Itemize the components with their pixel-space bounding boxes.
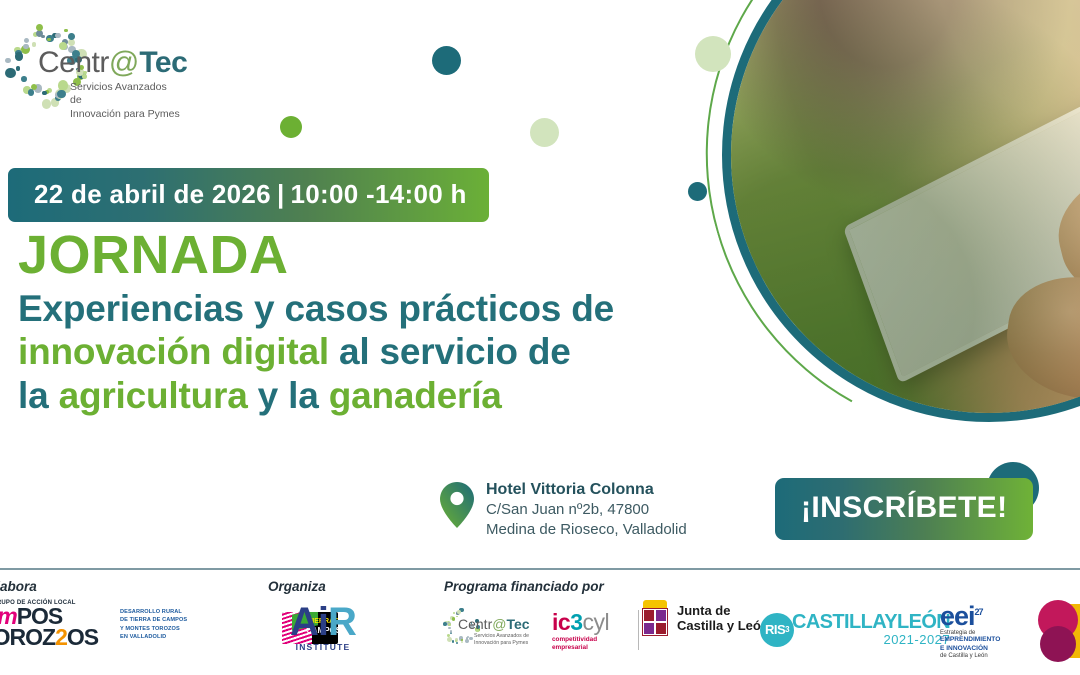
eei-text: eei: [940, 601, 975, 631]
icecyl-sub-1: competitividad: [552, 636, 642, 645]
junta-wordmark: Junta de Castilla y León: [677, 604, 769, 633]
crest-shield: [642, 608, 668, 636]
venue-address: C/San Juan nº2b, 47800: [486, 500, 687, 519]
castilla-leon-crest-icon: [640, 600, 670, 638]
crest-crown: [643, 600, 667, 608]
location-pin-icon: [440, 482, 474, 528]
air-r: R: [328, 600, 356, 644]
headline-line-3: la agricultura y la ganadería: [18, 374, 758, 417]
logo-word-centr: Centr: [38, 46, 109, 79]
ris3-badge: RIS3: [760, 613, 794, 647]
footer-label-collaborate: olabora: [0, 579, 37, 594]
headline-l3-green-a: agricultura: [59, 375, 248, 416]
torozos-b: OS: [67, 624, 98, 650]
headline-l3-green-b: ganadería: [329, 375, 502, 416]
headline-kicker: JORNADA: [18, 228, 758, 283]
air-institute-logo: AiR INSTITUTE: [268, 604, 378, 652]
icecyl-cyl: cyl: [582, 609, 609, 635]
dot-teal-mid: [688, 182, 707, 201]
dot-pale-top: [695, 36, 731, 72]
crest-quarter-3: [643, 622, 655, 635]
junta-castilla-leon-logo: Junta de Castilla y León: [640, 600, 769, 638]
event-date: 22 de abril de 2026: [34, 179, 271, 209]
campos-torozos-logo: GRUPO DE ACCIÓN LOCAL CAmPOS TOROZ2OS DE…: [0, 600, 196, 648]
tagline-line-2: Innovación para Pymes: [70, 108, 180, 121]
centratec-wordmark: Centr@Tec: [38, 46, 187, 80]
ct-at: @: [492, 616, 506, 632]
date-time-separator: |: [271, 179, 291, 209]
icecyl-tagline: competitividad empresarial: [552, 636, 642, 653]
ct-word-1: Centr: [458, 616, 492, 632]
eei-line-3: de Castilla y León: [940, 653, 1032, 659]
footer-label-organize: Organiza: [268, 579, 326, 594]
campos-side-4: EN VALLADOLID: [120, 633, 187, 641]
campos-side-text: DESARROLLO RURAL DE TIERRA DE CAMPOS Y M…: [120, 608, 187, 642]
eei-superscript: 27: [975, 607, 983, 617]
headline-l3-teal-a: la: [18, 375, 48, 416]
eei-line-2: EMPRENDIMIENTO E INNOVACIÓN: [940, 636, 1032, 653]
centratec-logo: Centr@Tec Servicios Avanzados de Innovac…: [8, 26, 180, 122]
register-button[interactable]: ¡INSCRÍBETE!: [775, 478, 1033, 540]
headline-line-2: innovación digital al servicio de: [18, 330, 758, 373]
headline-l1-teal: Experiencias y casos prácticos de: [18, 288, 614, 329]
centratec-footer-tagline: Servicios Avanzados de Innovación para P…: [474, 633, 529, 647]
air-institute-label: INSTITUTE: [268, 642, 378, 652]
headline-line-1: Experiencias y casos prácticos de: [18, 287, 758, 330]
campos-side-3: Y MONTES TOROZOS: [120, 625, 187, 633]
eei-line-2a: EMPRENDIMIENTO: [940, 636, 1032, 645]
event-time: 10:00 -14:00 h: [291, 179, 467, 209]
eei-wordmark: eei27: [940, 604, 1032, 628]
partner-logo-circle-purple: [1040, 626, 1076, 662]
crest-quarter-1: [643, 609, 655, 622]
campos-side-1: DESARROLLO RURAL: [120, 608, 187, 616]
headline-l2-green: innovación digital: [18, 331, 329, 372]
headline-l2-teal: al servicio de: [339, 331, 571, 372]
headline-l3-teal-b: y la: [258, 375, 319, 416]
event-date-ribbon: 22 de abril de 2026|10:00 -14:00 h: [8, 168, 489, 222]
headline-body: Experiencias y casos prácticos de innova…: [18, 287, 758, 417]
ris3-years: 2021-2027: [792, 632, 950, 647]
footer-logo-separator: [638, 610, 639, 650]
centratec-footer-wordmark: Centr@Tec: [458, 616, 530, 634]
centratec-tagline: Servicios Avanzados de Innovación para P…: [70, 81, 180, 121]
eei-logo: eei27 Estrategia de EMPRENDIMIENTO E INN…: [940, 604, 1032, 659]
venue-city: Medina de Rioseco, Valladolid: [486, 520, 687, 539]
campos-side-2: DE TIERRA DE CAMPOS: [120, 616, 187, 624]
ris3-castilla-leon-logo: RIS3 CASTILLAYLEÓN 2021-2027: [760, 612, 950, 647]
ris3-superscript: 3: [785, 625, 789, 634]
icecyl-wordmark: ic3cyl: [552, 612, 642, 634]
torozos-a: TOROZ: [0, 624, 55, 650]
ct-sub-2: Innovación para Pymes: [474, 640, 529, 647]
crest-quarter-4: [655, 622, 667, 635]
dot-green-small: [280, 116, 302, 138]
footer-label-funded: Programa financiado por: [444, 579, 604, 594]
ct-sub-1: Servicios Avanzados de: [474, 633, 529, 640]
torozos-z: 2: [55, 624, 67, 650]
partner-logo-partial: [1038, 600, 1080, 666]
ris3-wordmark: CASTILLAYLEÓN 2021-2027: [792, 612, 950, 647]
air-ai: Ai: [290, 600, 328, 644]
logo-word-tec: Tec: [139, 46, 187, 79]
icecyl-sub-2: empresarial: [552, 644, 642, 653]
ris3-text: RIS: [765, 622, 785, 637]
icecyl-ic: ic: [552, 609, 570, 635]
dot-pale-mid: [530, 118, 559, 147]
tagline-line-1: Servicios Avanzados de: [70, 81, 180, 108]
ct-word-2: Tec: [506, 616, 529, 632]
logo-at-symbol: @: [109, 46, 139, 79]
icecyl-3: 3: [570, 609, 582, 635]
dot-teal-top: [432, 46, 461, 75]
register-cta-wrapper[interactable]: ¡INSCRÍBETE!: [775, 478, 1033, 540]
air-wordmark: AiR: [268, 604, 378, 641]
poster-canvas: Centr@Tec Servicios Avanzados de Innovac…: [0, 0, 1080, 675]
icecyl-logo: ic3cyl competitividad empresarial: [552, 612, 642, 653]
venue-text: Hotel Vittoria Colonna C/San Juan nº2b, …: [486, 480, 687, 539]
crest-quarter-2: [655, 609, 667, 622]
junta-line-2: Castilla y León: [677, 619, 769, 634]
event-headline: JORNADA Experiencias y casos prácticos d…: [18, 228, 758, 417]
ris3-region: CASTILLAYLEÓN: [792, 612, 950, 632]
eei-line-2b: E INNOVACIÓN: [940, 645, 1032, 654]
venue-block: Hotel Vittoria Colonna C/San Juan nº2b, …: [440, 480, 687, 539]
venue-name: Hotel Vittoria Colonna: [486, 480, 687, 500]
junta-line-1: Junta de: [677, 604, 769, 619]
